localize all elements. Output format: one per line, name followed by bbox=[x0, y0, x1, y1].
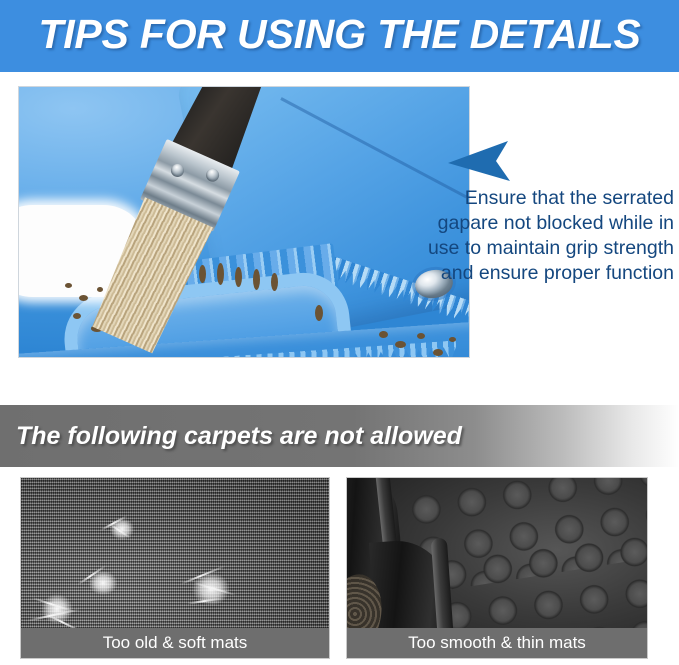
debris-speck bbox=[417, 333, 425, 339]
debris-speck bbox=[395, 341, 406, 348]
card-caption: Too smooth & thin mats bbox=[347, 628, 647, 658]
too-smooth-thin-mats-photo: Too smooth & thin mats bbox=[346, 477, 648, 659]
section-banner-title: The following carpets are not allowed bbox=[16, 405, 462, 467]
debris-speck bbox=[379, 331, 388, 338]
debris-speck bbox=[271, 273, 278, 291]
left-arrow-icon bbox=[446, 141, 514, 183]
debris-speck bbox=[65, 283, 72, 288]
page-title: TIPS FOR USING THE DETAILS bbox=[0, 0, 679, 72]
card-caption: Too old & soft mats bbox=[21, 628, 329, 658]
debris-speck bbox=[79, 295, 88, 301]
too-old-soft-mats-photo: Too old & soft mats bbox=[20, 477, 330, 659]
debris-speck bbox=[449, 337, 456, 342]
debris-speck bbox=[73, 313, 81, 319]
main-product-photo bbox=[18, 86, 470, 358]
debris-speck bbox=[315, 305, 323, 321]
carpet-fiber-tuft bbox=[83, 566, 123, 600]
debris-speck bbox=[433, 349, 443, 356]
debris-speck bbox=[217, 263, 224, 285]
debris-speck bbox=[253, 269, 260, 290]
debris-speck bbox=[235, 267, 242, 287]
callout-text: Ensure that the serrated gapare not bloc… bbox=[420, 186, 674, 286]
